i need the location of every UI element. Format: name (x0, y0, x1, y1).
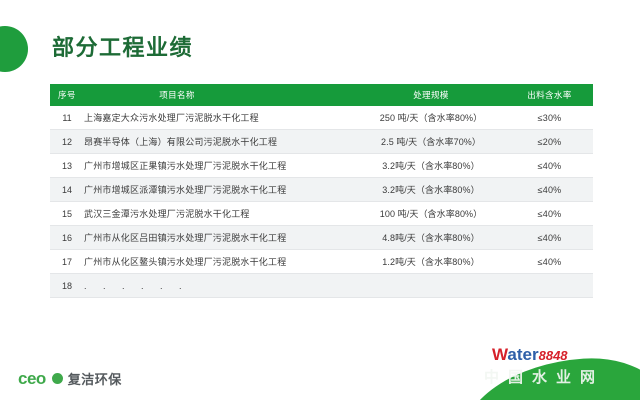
cell-water: ≤40% (506, 154, 593, 178)
watermark-brand-rest: ater (507, 345, 538, 364)
cell-no: 16 (50, 226, 84, 250)
cell-scale: 4.8吨/天（含水率80%） (356, 226, 506, 250)
table-header: 序号 项目名称 处理规模 出料含水率 (50, 84, 593, 106)
cell-no: 11 (50, 106, 84, 130)
cell-name: 昂赛半导体（上海）有限公司污泥脱水干化工程 (84, 130, 356, 154)
leaf-icon (52, 373, 63, 384)
watermark-brand-w: W (492, 345, 507, 364)
watermark: ○ Water8848 中国水业网 (470, 342, 640, 400)
cell-scale: 3.2吨/天（含水率80%） (356, 154, 506, 178)
cell-water: ≤40% (506, 178, 593, 202)
table-row: 16 广州市从化区吕田镇污水处理厂污泥脱水干化工程 4.8吨/天（含水率80%）… (50, 226, 593, 250)
column-header-water: 出料含水率 (506, 84, 593, 106)
cell-scale: 1.2吨/天（含水率80%） (356, 250, 506, 274)
cell-water: ≤40% (506, 226, 593, 250)
cell-no: 13 (50, 154, 84, 178)
column-header-no: 序号 (50, 84, 84, 106)
cell-ellipsis: . . . . . . (84, 274, 356, 298)
table-header-row: 序号 项目名称 处理规模 出料含水率 (50, 84, 593, 106)
table-row: 13 广州市增城区正果镇污水处理厂污泥脱水干化工程 3.2吨/天（含水率80%）… (50, 154, 593, 178)
cell-scale: 2.5 吨/天（含水率70%） (356, 130, 506, 154)
cell-no: 17 (50, 250, 84, 274)
column-header-scale: 处理规模 (356, 84, 506, 106)
decorative-circle (0, 26, 28, 72)
cell-name: 广州市从化区吕田镇污水处理厂污泥脱水干化工程 (84, 226, 356, 250)
cell-name: 广州市增城区正果镇污水处理厂污泥脱水干化工程 (84, 154, 356, 178)
table-row-ellipsis: 18 . . . . . . (50, 274, 593, 298)
page-title: 部分工程业绩 (52, 33, 193, 63)
cell-no: 12 (50, 130, 84, 154)
table-body: 11 上海嘉定大众污水处理厂污泥脱水干化工程 250 吨/天（含水率80%） ≤… (50, 106, 593, 298)
watermark-brand-number: 8848 (539, 348, 568, 363)
table-row: 11 上海嘉定大众污水处理厂污泥脱水干化工程 250 吨/天（含水率80%） ≤… (50, 106, 593, 130)
slide-canvas: 部分工程业绩 序号 项目名称 处理规模 出料含水率 11 上海嘉定大众污水处理厂… (0, 0, 640, 400)
performance-table: 序号 项目名称 处理规模 出料含水率 11 上海嘉定大众污水处理厂污泥脱水干化工… (50, 84, 593, 298)
cell-no: 15 (50, 202, 84, 226)
cell-no: 14 (50, 178, 84, 202)
cell-water: ≤30% (506, 106, 593, 130)
cell-water: ≤20% (506, 130, 593, 154)
cell-water: ≤40% (506, 202, 593, 226)
cell-name: 上海嘉定大众污水处理厂污泥脱水干化工程 (84, 106, 356, 130)
cell-water (506, 274, 593, 298)
cell-water: ≤40% (506, 250, 593, 274)
cell-scale: 250 吨/天（含水率80%） (356, 106, 506, 130)
cell-scale: 3.2吨/天（含水率80%） (356, 178, 506, 202)
watermark-chinese-text: 中国水业网 (484, 366, 604, 387)
cell-name: 广州市从化区鳌头镇污水处理厂污泥脱水干化工程 (84, 250, 356, 274)
logo-chinese-text: 复洁环保 (68, 369, 122, 388)
column-header-name: 项目名称 (84, 84, 356, 106)
cell-scale (356, 274, 506, 298)
table-row: 15 武汉三金潭污水处理厂污泥脱水干化工程 100 吨/天（含水率80%） ≤4… (50, 202, 593, 226)
table-row: 17 广州市从化区鳌头镇污水处理厂污泥脱水干化工程 1.2吨/天（含水率80%）… (50, 250, 593, 274)
cell-name: 广州市增城区派潭镇污水处理厂污泥脱水干化工程 (84, 178, 356, 202)
table-row: 12 昂赛半导体（上海）有限公司污泥脱水干化工程 2.5 吨/天（含水率70%）… (50, 130, 593, 154)
logo-latin-text: ceo (18, 370, 46, 387)
cell-name: 武汉三金潭污水处理厂污泥脱水干化工程 (84, 202, 356, 226)
cell-scale: 100 吨/天（含水率80%） (356, 202, 506, 226)
watermark-brand: Water8848 (492, 346, 568, 365)
cell-no: 18 (50, 274, 84, 298)
table-row: 14 广州市增城区派潭镇污水处理厂污泥脱水干化工程 3.2吨/天（含水率80%）… (50, 178, 593, 202)
company-logo: ceo 复洁环保 (18, 369, 122, 388)
